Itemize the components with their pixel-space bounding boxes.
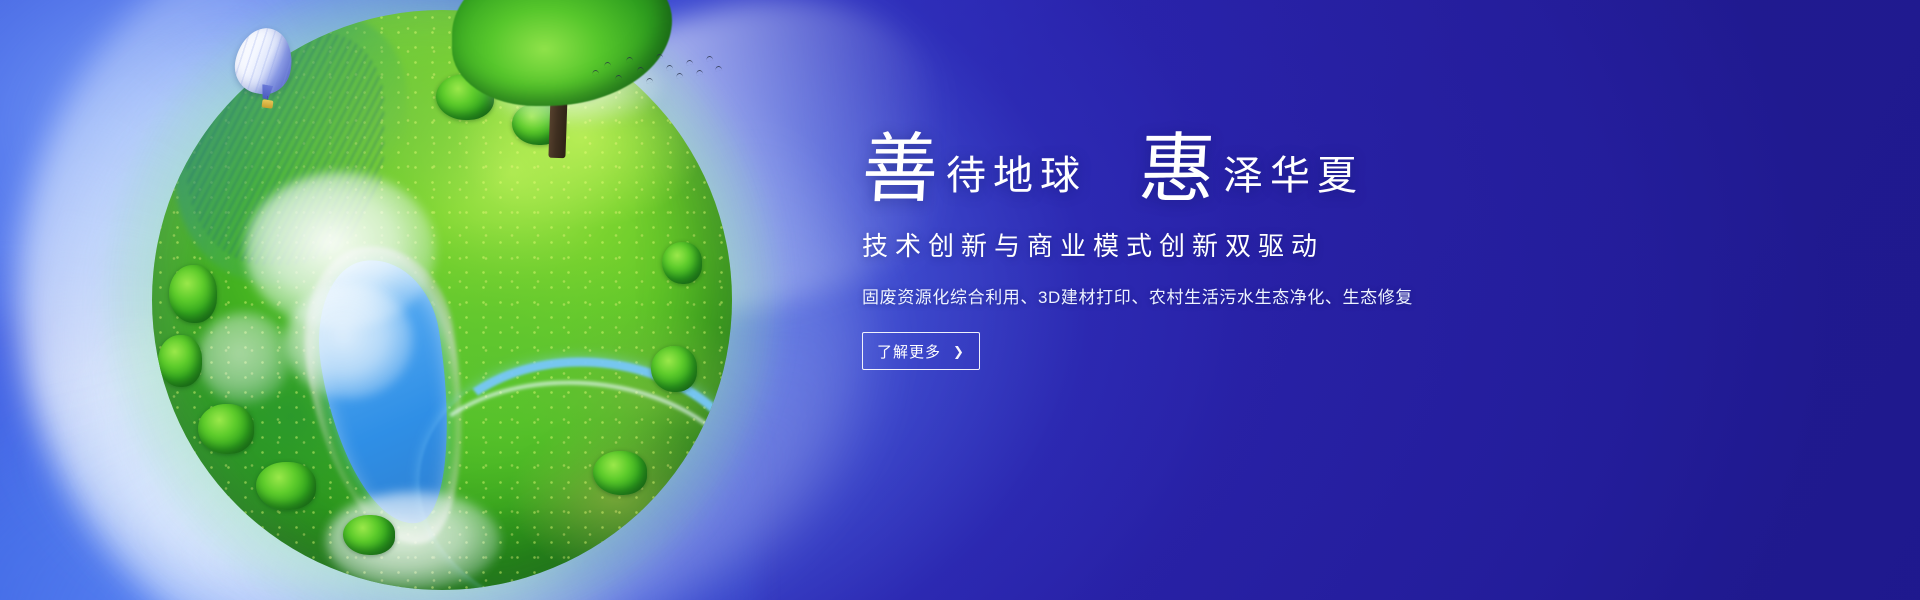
headline-small-1: 待地球	[946, 156, 1087, 196]
hero-description: 固废资源化综合利用、3D建材打印、农村生活污水生态净化、生态修复	[862, 283, 1602, 308]
hero-banner: 善 待地球 惠 泽华夏 技术创新与商业模式创新双驱动 固废资源化综合利用、3D建…	[0, 0, 1920, 600]
hero-subtitle: 技术创新与商业模式创新双驱动	[862, 226, 1602, 263]
hero-copy: 善 待地球 惠 泽华夏 技术创新与商业模式创新双驱动 固废资源化综合利用、3D建…	[862, 132, 1602, 370]
headline-small-2: 泽华夏	[1223, 156, 1364, 196]
page-title: 善 待地球 惠 泽华夏	[862, 132, 1602, 208]
headline-large-1: 善	[860, 132, 940, 208]
chevron-right-icon: ❯	[953, 345, 965, 358]
learn-more-label: 了解更多	[877, 341, 941, 362]
headline-large-2: 惠	[1137, 132, 1217, 208]
learn-more-button[interactable]: 了解更多 ❯	[862, 332, 980, 370]
